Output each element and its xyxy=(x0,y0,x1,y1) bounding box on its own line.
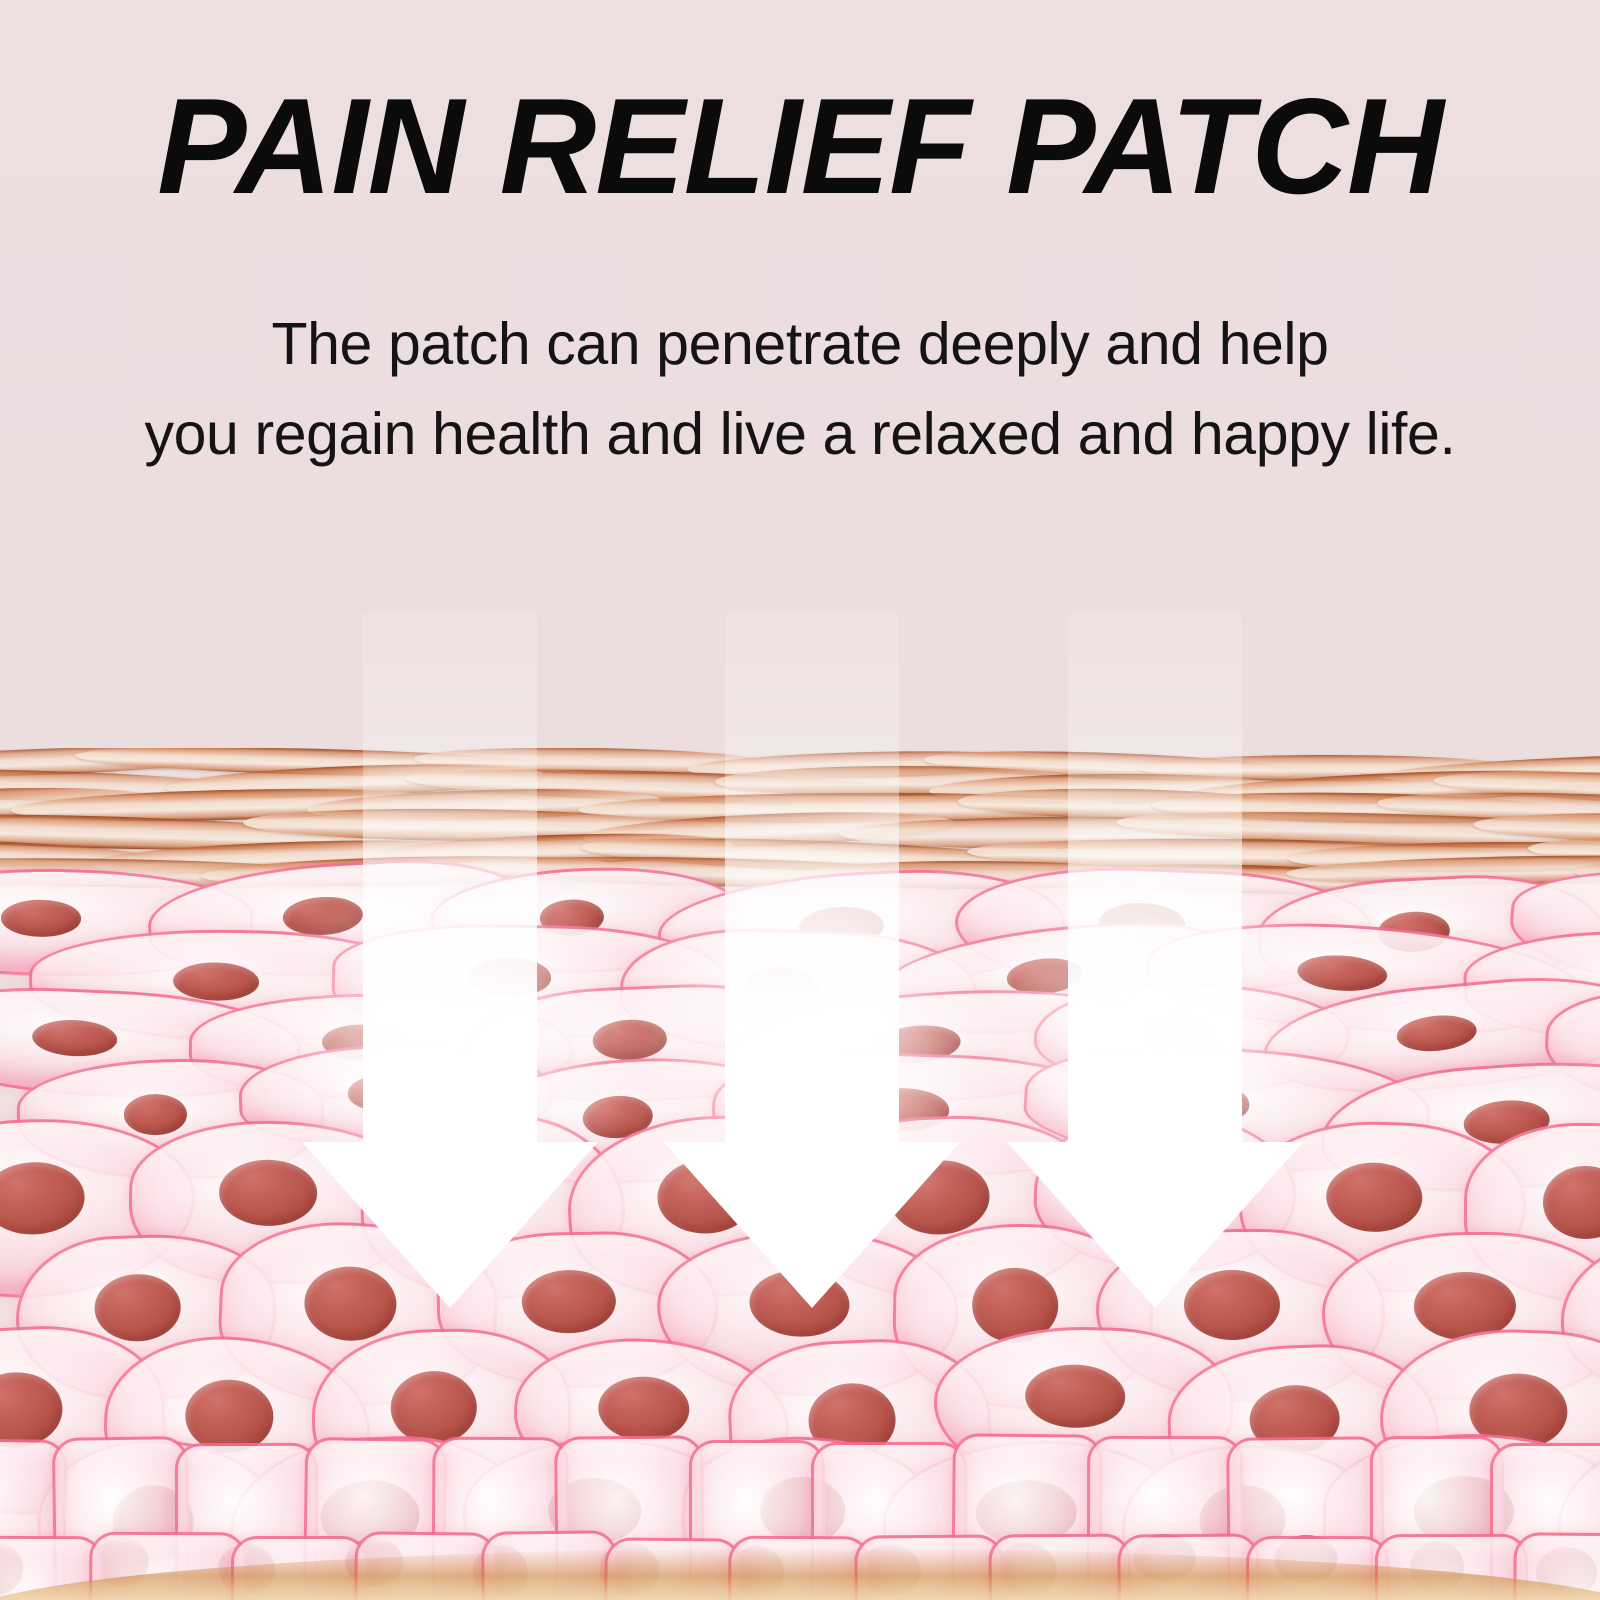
cell-nucleus xyxy=(390,1371,477,1445)
cell-nucleus xyxy=(282,895,364,938)
cell-nucleus xyxy=(1542,1166,1600,1240)
cell-nucleus xyxy=(32,1019,119,1059)
cell-nucleus xyxy=(0,1160,85,1236)
squamous-cell-layer xyxy=(0,868,1600,1116)
page-title: PAIN RELIEF PATCH xyxy=(12,78,1588,214)
cell-nucleus xyxy=(1,900,81,937)
cell-nucleus xyxy=(1184,1270,1280,1340)
cell-nucleus xyxy=(441,1157,531,1235)
cell-nucleus xyxy=(1296,952,1388,993)
cell-nucleus xyxy=(469,957,551,997)
cell-nucleus xyxy=(303,1265,398,1343)
cell-nucleus xyxy=(1024,1364,1125,1430)
cell-nucleus xyxy=(347,1075,412,1112)
cell-nucleus xyxy=(1114,1149,1202,1216)
page-subtitle: The patch can penetrate deeply and help … xyxy=(0,300,1600,479)
cell-nucleus xyxy=(597,1376,690,1443)
cell-nucleus xyxy=(1325,1161,1423,1233)
skin-cross-section-illustration xyxy=(0,748,1600,1600)
pain-relief-patch-poster: PAIN RELIEF PATCH The patch can penetrat… xyxy=(0,0,1600,1600)
subtitle-line-2: you regain health and live a relaxed and… xyxy=(0,390,1600,480)
cell-nucleus xyxy=(888,1158,991,1237)
cell-nucleus xyxy=(219,1159,319,1227)
cell-nucleus xyxy=(655,1157,757,1235)
cell-nucleus xyxy=(1396,1012,1479,1054)
cell-nucleus xyxy=(522,1269,616,1334)
cell-nucleus xyxy=(747,1268,851,1340)
cell-nucleus xyxy=(593,1019,668,1061)
subtitle-line-1: The patch can penetrate deeply and help xyxy=(271,311,1328,377)
cell-nucleus xyxy=(94,1273,182,1342)
cell-nucleus xyxy=(173,962,260,1002)
